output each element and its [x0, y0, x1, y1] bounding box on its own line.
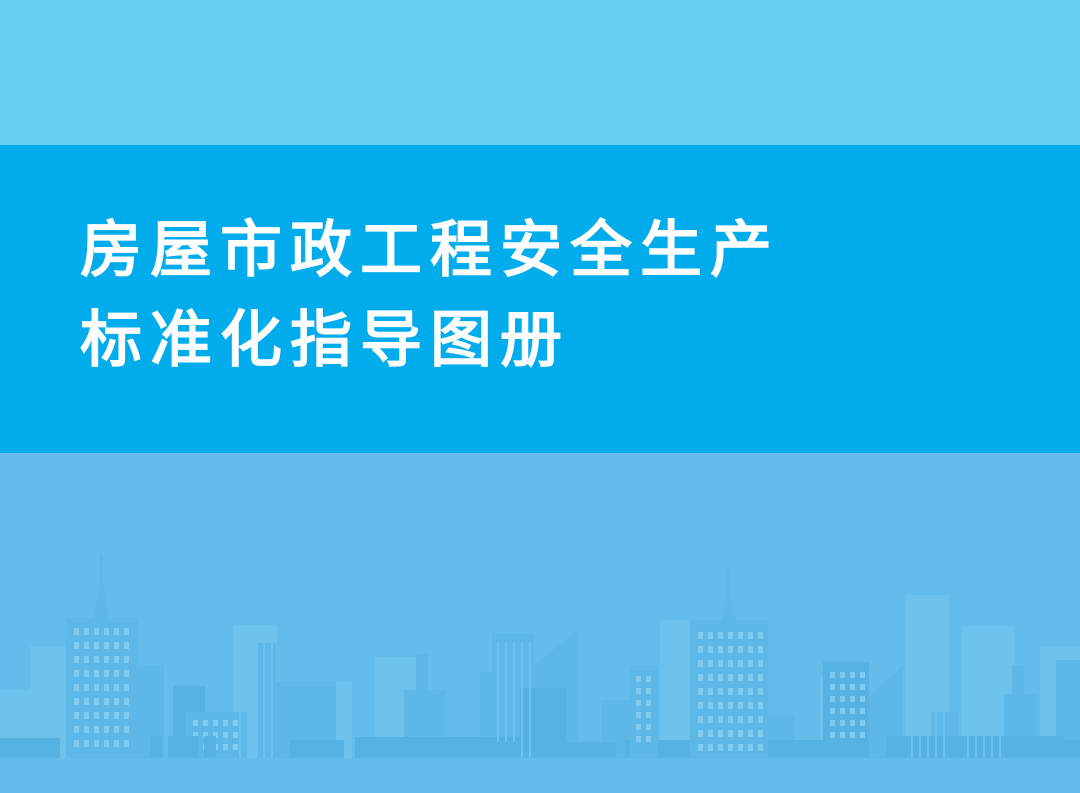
title-line-1: 房屋市政工程安全生产 [80, 206, 940, 296]
cover-title: 房屋市政工程安全生产 标准化指导图册 [80, 206, 940, 386]
top-color-band [0, 0, 1080, 145]
bottom-color-band [0, 453, 1080, 793]
title-line-2: 标准化指导图册 [80, 296, 940, 386]
cover-slide: 房屋市政工程安全生产 标准化指导图册 [0, 0, 1080, 793]
